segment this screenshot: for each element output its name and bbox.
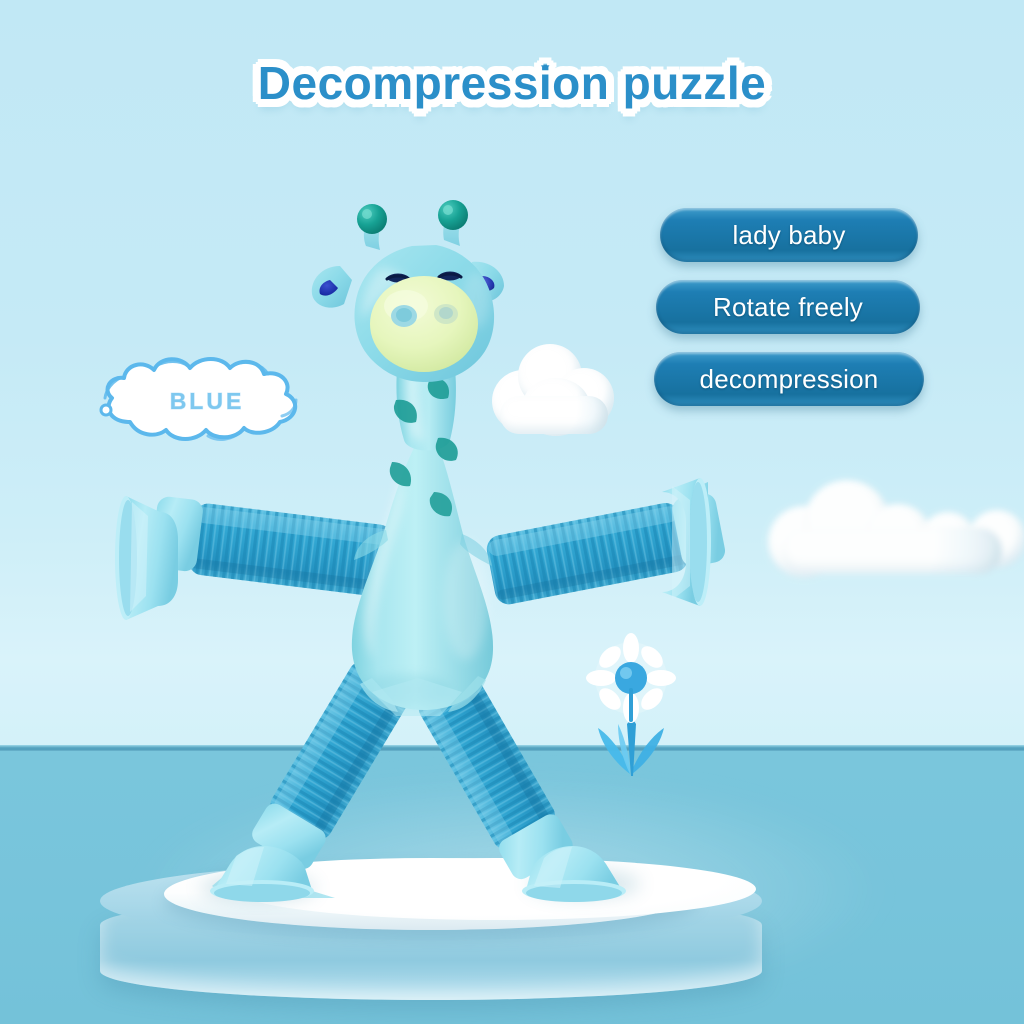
horns [357,200,468,250]
giraffe-pop-tube-toy[interactable] [0,0,1024,1024]
suction-cup-hand-left [115,496,178,620]
toy-head[interactable] [312,200,504,382]
muzzle [370,276,478,372]
product-image-canvas: Decompression puzzle BLUE lady bab [0,0,1024,1024]
toy-body[interactable] [352,440,493,716]
arm-left[interactable] [115,495,395,620]
arm-right[interactable] [484,478,727,607]
